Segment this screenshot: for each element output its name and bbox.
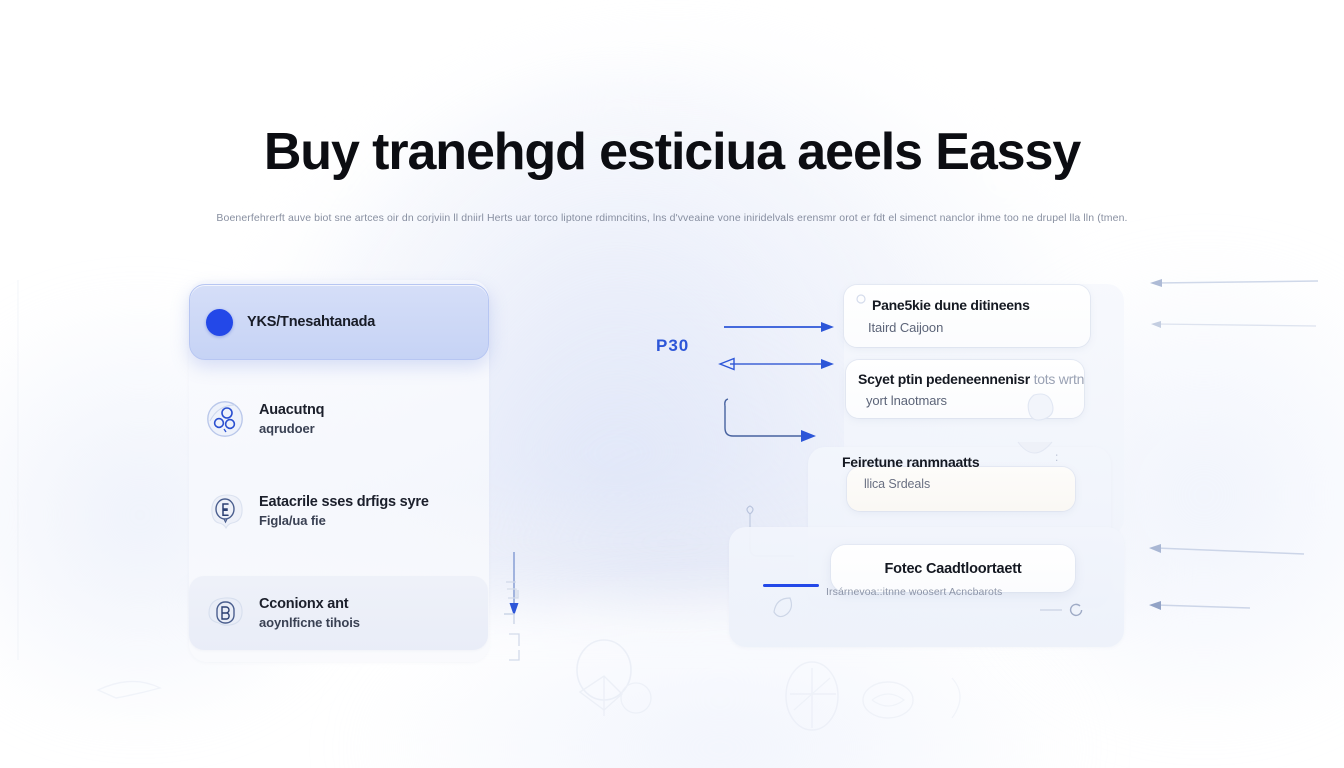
arrow-left-right-icon	[720, 359, 834, 370]
footer-note: Irsárnevoa::itnne woosert Acncbarots	[826, 586, 1002, 598]
bracket-corner-icon	[503, 632, 527, 662]
faint-arrow-3-icon	[1149, 544, 1304, 554]
connector-group: P30	[620, 284, 860, 464]
faint-arrow-1-icon	[1150, 279, 1318, 287]
list-item-selected[interactable]: YKS/Tnesahtanada	[189, 284, 489, 360]
list-item-text: Auacutnq aqrudoer	[259, 402, 324, 436]
page-title: Buy tranehgd esticiua aeels Eassy	[0, 126, 1344, 178]
list-item-title: YKS/Tnesahtanada	[247, 314, 375, 330]
list-item-text: Eatacrile sses drfigs syre Figla/ua fie	[259, 494, 429, 528]
arrow-right-icon	[724, 322, 834, 332]
right-card-two-heading-main: Scyet ptin pedeneennenisr	[858, 371, 1030, 387]
right-card-two-body: yort lnaotmars	[866, 393, 947, 408]
right-card-three-body: llica Srdeals	[864, 477, 930, 491]
right-card-two-heading: Scyet ptin pedeneennenisr tots wrtn	[858, 371, 1084, 387]
page-subtitle: Boenerfehrerft auve biot sne artces oir …	[0, 212, 1344, 225]
right-card-two-heading-dim: tots wrtn	[1034, 371, 1085, 387]
right-card-one-heading: Pane5kie dune ditineens	[872, 297, 1030, 313]
right-margin-annotations	[1140, 262, 1344, 662]
connector-arrows	[620, 284, 860, 464]
list-item-text: YKS/Tnesahtanada	[247, 314, 375, 330]
card-one-marker-icon	[854, 292, 868, 306]
refresh-icon[interactable]	[1066, 600, 1086, 620]
list-item-text: Cconionx ant aoynlficne tihois	[259, 596, 360, 630]
connector-label: P30	[656, 336, 689, 356]
primary-action-button-label: Fotec Caadtloortaett	[831, 545, 1075, 592]
faint-arrow-2-icon	[1151, 321, 1316, 328]
right-card-three-heading: Feiretune ranmnaatts	[842, 454, 979, 470]
list-item-title: Auacutnq	[259, 402, 324, 418]
bracket-tick-top-icon	[500, 612, 522, 632]
molecule-circle-icon	[205, 399, 245, 439]
option-list: YKS/Tnesahtanada Au	[189, 280, 489, 662]
list-item-title: Eatacrile sses drfigs syre	[259, 494, 429, 510]
bracket-tick-bottom-icon	[502, 585, 526, 611]
ghost-compass-icon	[760, 648, 1020, 758]
blue-dot-icon	[206, 309, 233, 336]
list-item-subtitle: aqrudoer	[259, 421, 324, 436]
left-options-panel: YKS/Tnesahtanada Au	[189, 280, 489, 662]
list-item-title: Cconionx ant	[259, 596, 360, 612]
hero-section: Buy tranehgd esticiua aeels Eassy Boener…	[0, 126, 1344, 225]
right-card-one-body: Itaird Caijoon	[868, 320, 943, 335]
list-item-eatacrile[interactable]: Eatacrile sses drfigs syre Figla/ua fie	[189, 476, 489, 546]
footer-leaf-icon	[768, 592, 802, 626]
list-item-subtitle: aoynlficne tihois	[259, 615, 360, 630]
list-item-subtitle: Figla/ua fie	[259, 513, 429, 528]
card-three-notch-icon	[1014, 440, 1060, 470]
list-item-cconionx[interactable]: Cconionx ant aoynlficne tihois	[189, 576, 488, 650]
list-item-auacutnq[interactable]: Auacutnq aqrudoer	[189, 384, 489, 454]
right-card-one[interactable]	[844, 285, 1090, 347]
faint-arrow-4-icon	[1149, 601, 1250, 610]
footer-accent-rule	[763, 584, 819, 587]
card-two-blob-icon	[1020, 387, 1060, 427]
arrow-elbow-right-icon	[725, 399, 816, 442]
badge-e-icon	[205, 491, 245, 531]
badge-b-icon	[205, 593, 245, 633]
diagram-stage: YKS/Tnesahtanada Au	[0, 262, 1344, 662]
